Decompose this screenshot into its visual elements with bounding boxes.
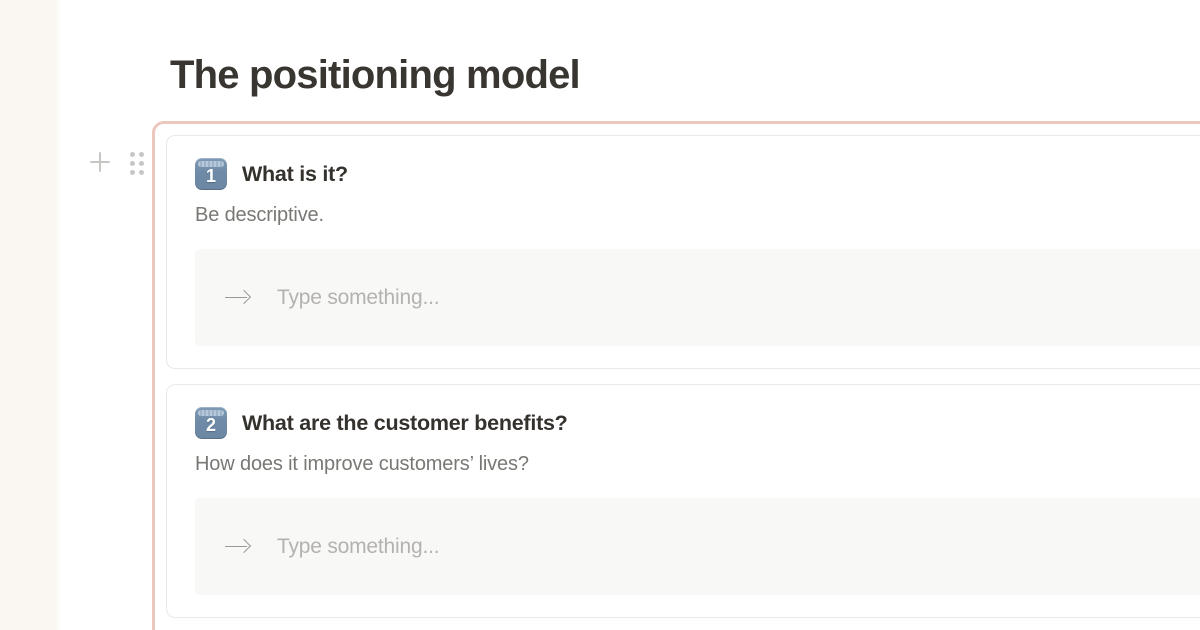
drag-dot (139, 170, 144, 175)
page-root: The positioning model 1 What is it? Be d… (0, 0, 1200, 630)
question-subtitle: How does it improve customers’ lives? (167, 453, 1200, 476)
question-title: What is it? (242, 162, 348, 187)
selected-block-outline[interactable]: 1 What is it? Be descriptive. Type somet… (152, 121, 1200, 630)
drag-dot (139, 161, 144, 166)
page-title: The positioning model (170, 52, 580, 99)
question-subtitle: Be descriptive. (167, 204, 1200, 227)
drag-dot (130, 161, 135, 166)
answer-input[interactable]: Type something... (195, 249, 1200, 346)
six-dot-drag-handle-icon[interactable] (130, 152, 144, 174)
question-title: What are the customer benefits? (242, 411, 568, 436)
drag-dot (130, 152, 135, 157)
keycap-one-icon: 1 (195, 158, 227, 190)
drag-dot (139, 152, 144, 157)
arrow-right-icon (225, 539, 249, 554)
answer-placeholder: Type something... (277, 535, 439, 559)
question-header: 2 What are the customer benefits? (167, 407, 1200, 439)
answer-placeholder: Type something... (277, 286, 439, 310)
arrow-right-icon (225, 290, 249, 305)
question-number: 1 (195, 158, 227, 190)
drag-dot (130, 170, 135, 175)
question-header: 1 What is it? (167, 158, 1200, 190)
keycap-two-icon: 2 (195, 407, 227, 439)
left-sidebar-rail (0, 0, 62, 630)
answer-input[interactable]: Type something... (195, 498, 1200, 595)
plus-icon[interactable] (86, 148, 114, 176)
question-card[interactable]: 1 What is it? Be descriptive. Type somet… (166, 135, 1200, 369)
question-card[interactable]: 2 What are the customer benefits? How do… (166, 384, 1200, 618)
question-number: 2 (195, 407, 227, 439)
block-gutter-controls (86, 148, 150, 178)
